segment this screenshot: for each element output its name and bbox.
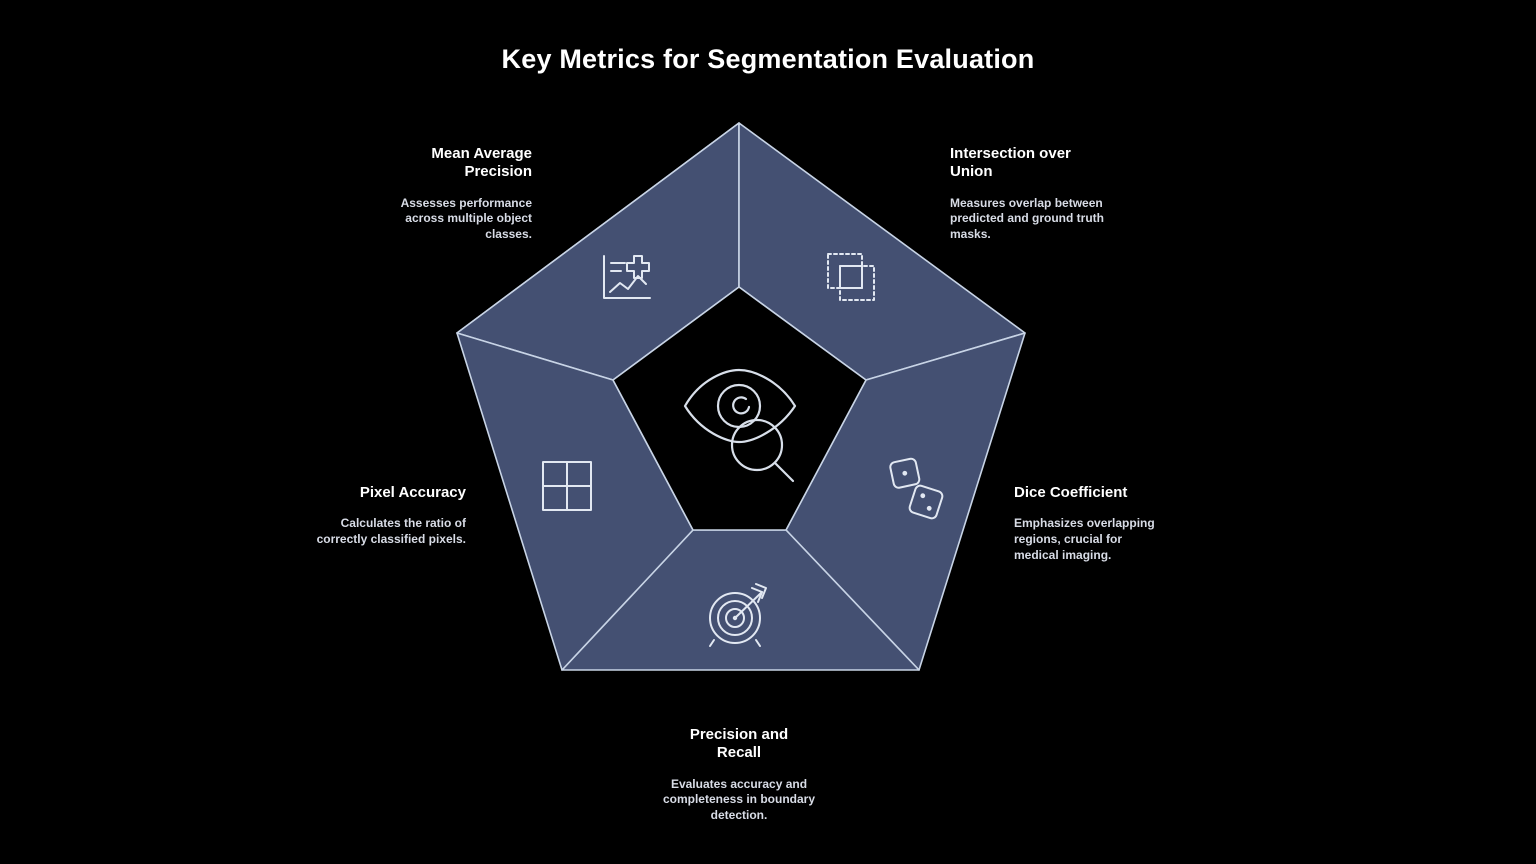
label-dice-coefficient: Dice Coefficient Emphasizes overlapping …: [1014, 484, 1164, 564]
label-title-line1: Precision and: [690, 726, 788, 743]
label-title: Mean Average Precision: [362, 145, 532, 182]
label-title: Pixel Accuracy: [296, 484, 466, 502]
label-precision-and-recall: Precision and Recall Evaluates accuracy …: [653, 726, 825, 824]
label-title-line2: Recall: [717, 744, 761, 761]
label-description: Measures overlap between predicted and g…: [950, 196, 1130, 243]
label-title: Intersection over Union: [950, 145, 1130, 182]
label-title-line2: Union: [950, 163, 993, 180]
label-title: Dice Coefficient: [1014, 484, 1164, 502]
label-title-line1: Intersection over: [950, 145, 1071, 162]
label-intersection-over-union: Intersection over Union Measures overlap…: [950, 145, 1130, 243]
label-description: Emphasizes overlapping regions, crucial …: [1014, 516, 1164, 563]
label-title: Precision and Recall: [653, 726, 825, 763]
label-mean-average-precision: Mean Average Precision Assesses performa…: [362, 145, 532, 243]
label-description: Assesses performance across multiple obj…: [362, 196, 532, 243]
label-title-line1: Mean Average: [431, 145, 532, 162]
label-pixel-accuracy: Pixel Accuracy Calculates the ratio of c…: [296, 484, 466, 548]
label-title-line2: Precision: [464, 163, 532, 180]
label-description: Calculates the ratio of correctly classi…: [296, 516, 466, 548]
infographic-canvas: Key Metrics for Segmentation Evaluation …: [0, 0, 1536, 864]
label-description: Evaluates accuracy and completeness in b…: [653, 777, 825, 824]
